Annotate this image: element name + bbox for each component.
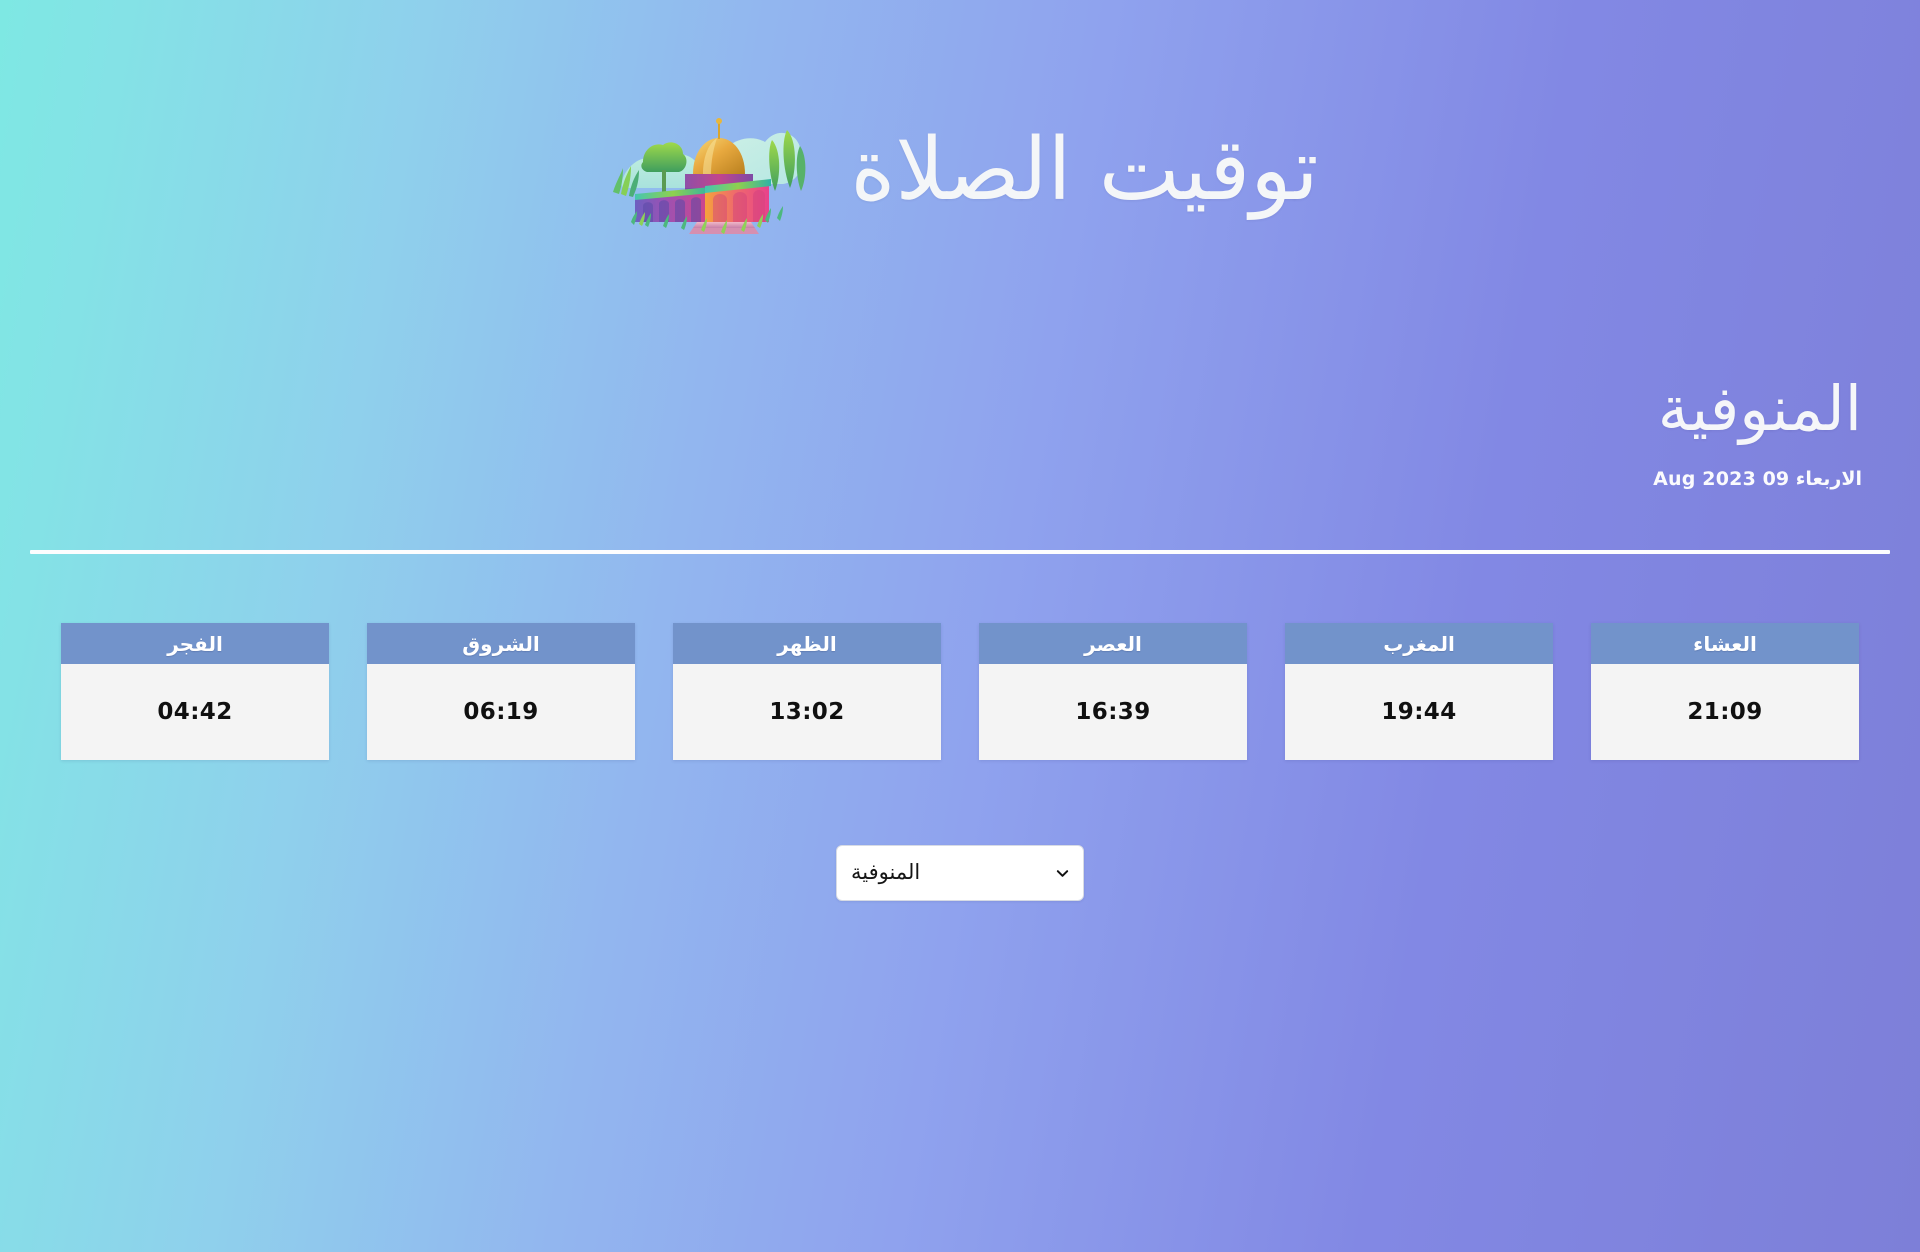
prayer-name-label: الشروق <box>462 634 539 654</box>
city-select-value: المنوفية <box>851 862 920 885</box>
prayer-card-header: المغرب <box>1285 623 1553 664</box>
prayer-card-header: الظهر <box>673 623 941 664</box>
prayer-card-body: 16:39 <box>979 664 1247 760</box>
prayer-card-isha: العشاء 21:09 <box>1591 623 1859 760</box>
prayer-card-body: 04:42 <box>61 664 329 760</box>
mosque-dome-illustration-icon <box>601 96 816 246</box>
prayer-name-label: العصر <box>1084 634 1142 654</box>
header-divider <box>30 550 1890 554</box>
prayer-name-label: العشاء <box>1693 634 1757 654</box>
prayer-card-body: 19:44 <box>1285 664 1553 760</box>
prayer-time-value: 06:19 <box>463 699 538 725</box>
prayer-times-row: العشاء 21:09 المغرب 19:44 العصر 16:39 <box>61 623 1859 760</box>
city-name: المنوفية <box>1653 370 1862 448</box>
page-title: توقيت الصلاة <box>850 117 1318 225</box>
prayer-name-label: الفجر <box>167 634 223 654</box>
chevron-down-icon[interactable] <box>1055 866 1070 881</box>
prayer-times-page: توقيت الصلاة <box>0 0 1920 1252</box>
prayer-time-value: 21:09 <box>1687 699 1762 725</box>
city-select-wrapper: المنوفية <box>836 845 1084 901</box>
prayer-card-header: الشروق <box>367 623 635 664</box>
prayer-card-body: 21:09 <box>1591 664 1859 760</box>
page-header: توقيت الصلاة <box>0 96 1920 246</box>
prayer-time-value: 16:39 <box>1075 699 1150 725</box>
prayer-card-maghrib: المغرب 19:44 <box>1285 623 1553 760</box>
prayer-card-header: الفجر <box>61 623 329 664</box>
prayer-time-value: 19:44 <box>1381 699 1456 725</box>
prayer-time-value: 04:42 <box>157 699 232 725</box>
prayer-name-label: المغرب <box>1383 634 1455 654</box>
location-header: المنوفية الاربعاء 09 Aug 2023 <box>1653 370 1862 490</box>
prayer-card-dhuhr: الظهر 13:02 <box>673 623 941 760</box>
prayer-name-label: الظهر <box>777 634 837 654</box>
prayer-card-shurooq: الشروق 06:19 <box>367 623 635 760</box>
prayer-card-body: 06:19 <box>367 664 635 760</box>
prayer-time-value: 13:02 <box>769 699 844 725</box>
prayer-card-asr: العصر 16:39 <box>979 623 1247 760</box>
prayer-card-fajr: الفجر 04:42 <box>61 623 329 760</box>
city-select[interactable]: المنوفية <box>836 845 1084 901</box>
prayer-card-header: العشاء <box>1591 623 1859 664</box>
prayer-card-header: العصر <box>979 623 1247 664</box>
current-date: الاربعاء 09 Aug 2023 <box>1653 468 1862 490</box>
prayer-card-body: 13:02 <box>673 664 941 760</box>
